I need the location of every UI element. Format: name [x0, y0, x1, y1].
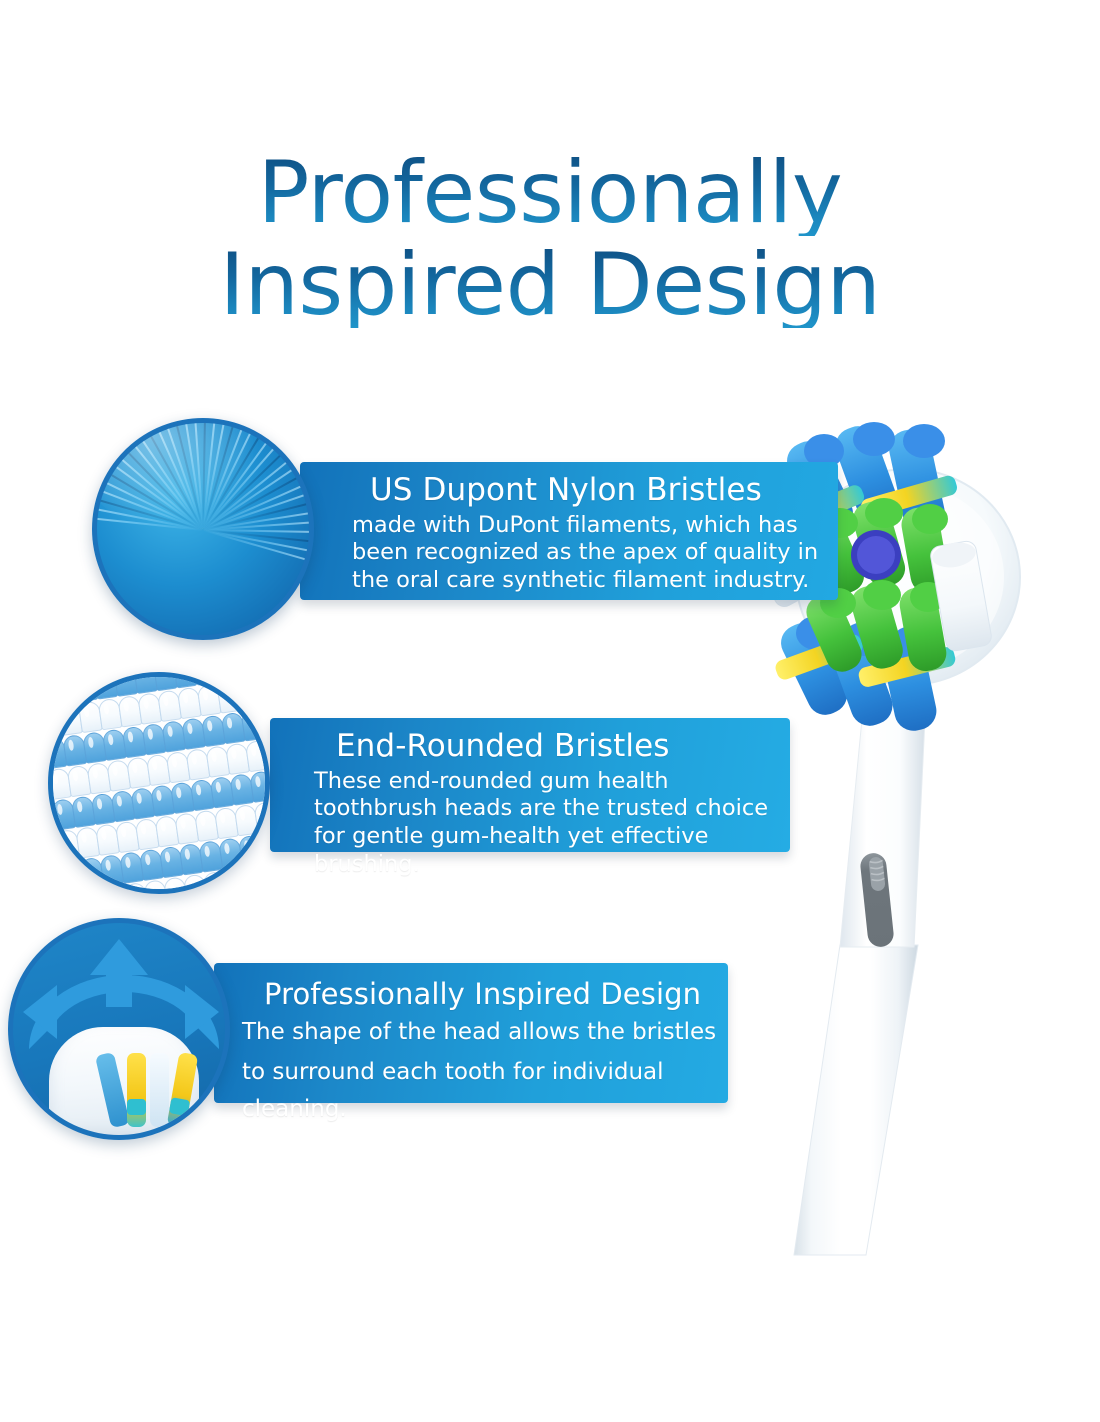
- nylon-filament-circle-image: [92, 418, 314, 640]
- feature-callout-end-rounded-bristles: End-Rounded Bristles These end-rounded g…: [270, 718, 790, 852]
- end-rounded-bristle-tips-circle-image: [48, 672, 270, 894]
- page-title: Professionally Inspired Design: [0, 150, 1100, 328]
- page-title-line-1: Professionally: [0, 150, 1100, 236]
- page-title-line-2: Inspired Design: [0, 242, 1100, 328]
- feature-2-body: These end-rounded gum health toothbrush …: [314, 768, 774, 880]
- feature-3-heading: Professionally Inspired Design: [242, 977, 718, 1011]
- feature-2-heading: End-Rounded Bristles: [314, 728, 774, 765]
- brush-head-illustration: [49, 1027, 199, 1140]
- infographic-page: Professionally Inspired Design: [0, 0, 1100, 1422]
- feature-callout-us-dupont-nylon-bristles: US Dupont Nylon Bristles made with DuPon…: [300, 462, 838, 600]
- arrow-right-icon: [185, 985, 219, 1039]
- feature-1-heading: US Dupont Nylon Bristles: [352, 472, 822, 509]
- feature-1-body: made with DuPont filaments, which has be…: [352, 512, 822, 596]
- brush-head-red-accent: [145, 1131, 167, 1140]
- feature-3-body-line-2: to surround each tooth for individual cl…: [242, 1054, 718, 1128]
- motion-arrows-brush-head-circle-image: [8, 918, 230, 1140]
- arrow-up-icon: [90, 939, 148, 975]
- arrow-left-icon: [23, 985, 57, 1039]
- arrow-up-stem: [106, 971, 132, 1007]
- feature-3-body-line-1: The shape of the head allows the bristle…: [242, 1014, 718, 1051]
- feature-callout-professionally-inspired-design: Professionally Inspired Design The shape…: [214, 963, 728, 1103]
